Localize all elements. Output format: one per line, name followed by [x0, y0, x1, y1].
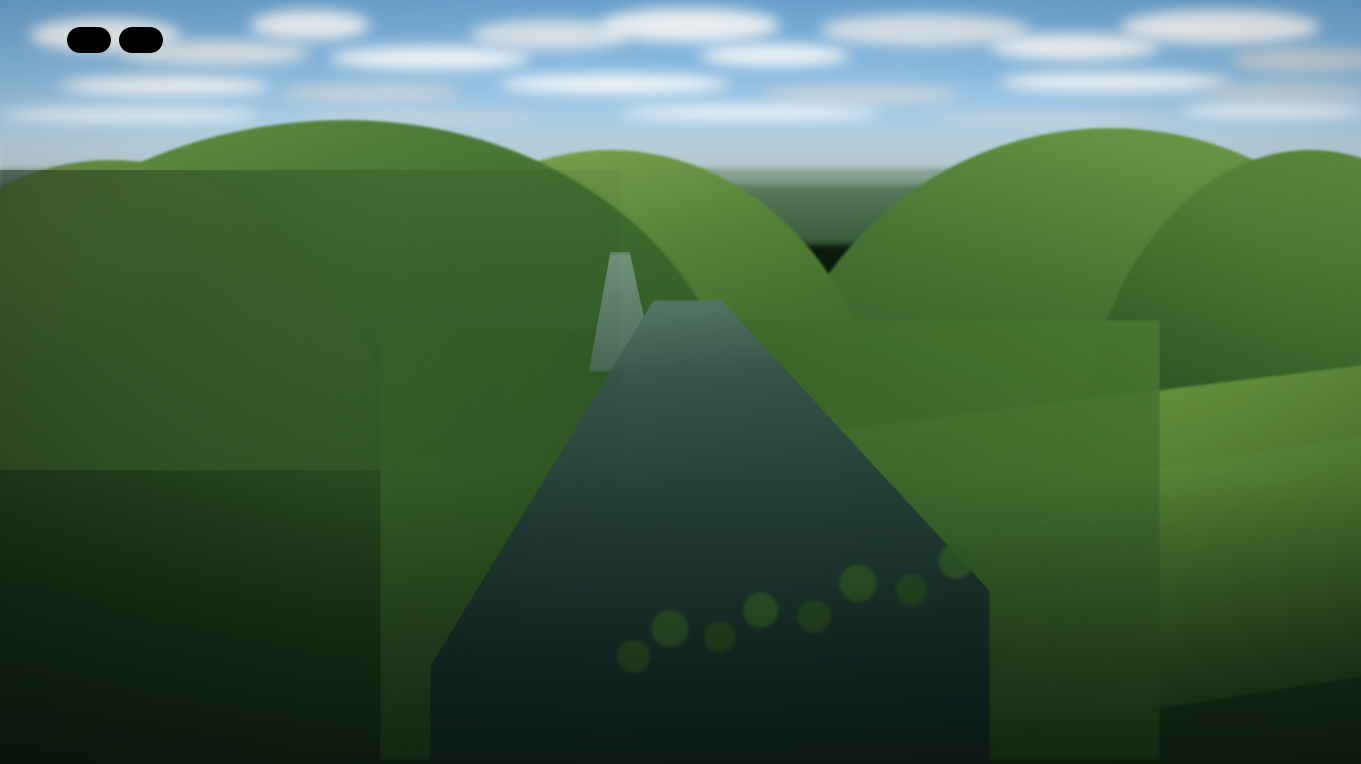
vignette-overlay — [0, 0, 1361, 764]
top-navigation — [67, 27, 163, 53]
background-landscape-photo — [0, 0, 1361, 764]
nav-item-home[interactable] — [67, 27, 111, 53]
nav-item-apresentacao[interactable] — [119, 27, 163, 53]
slide-canvas — [0, 0, 1361, 764]
